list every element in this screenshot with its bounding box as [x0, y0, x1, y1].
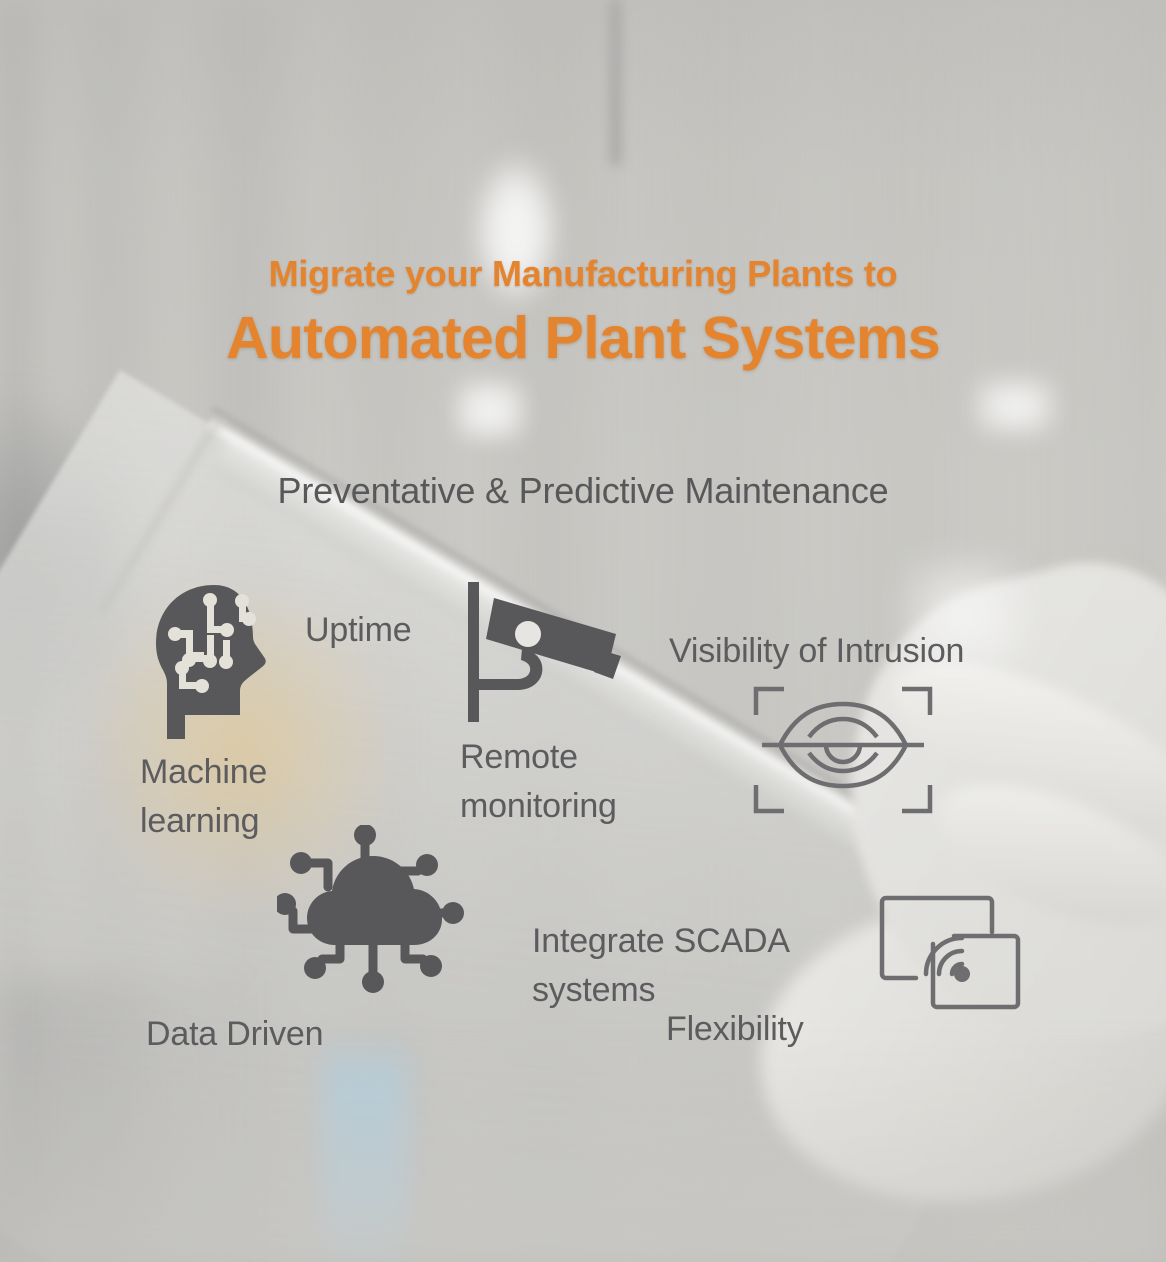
label-uptime: Uptime — [305, 606, 412, 655]
cloud-network-icon — [277, 825, 467, 995]
headline-block: Migrate your Manufacturing Plants to Aut… — [0, 256, 1166, 368]
headline-line-1: Migrate your Manufacturing Plants to — [0, 256, 1166, 292]
eye-surveillance-icon — [752, 685, 934, 815]
label-machine-learning: Machine learning — [140, 748, 267, 847]
label-flexibility: Flexibility — [666, 1005, 804, 1054]
subheadline: Preventative & Predictive Maintenance — [0, 470, 1166, 512]
label-data-driven: Data Driven — [146, 1010, 323, 1059]
cctv-camera-icon — [458, 582, 630, 722]
label-visibility-of-intrusion: Visibility of Intrusion — [669, 627, 964, 676]
label-integrate-scada: Integrate SCADA systems — [532, 917, 790, 1016]
wireless-cast-icon — [876, 890, 1024, 1012]
machine-learning-head-icon — [148, 583, 293, 743]
poster-canvas: Migrate your Manufacturing Plants to Aut… — [0, 0, 1166, 1262]
label-remote-monitoring: Remote monitoring — [460, 733, 617, 832]
content-layer: Migrate your Manufacturing Plants to Aut… — [0, 0, 1166, 1262]
headline-line-2: Automated Plant Systems — [0, 309, 1166, 368]
